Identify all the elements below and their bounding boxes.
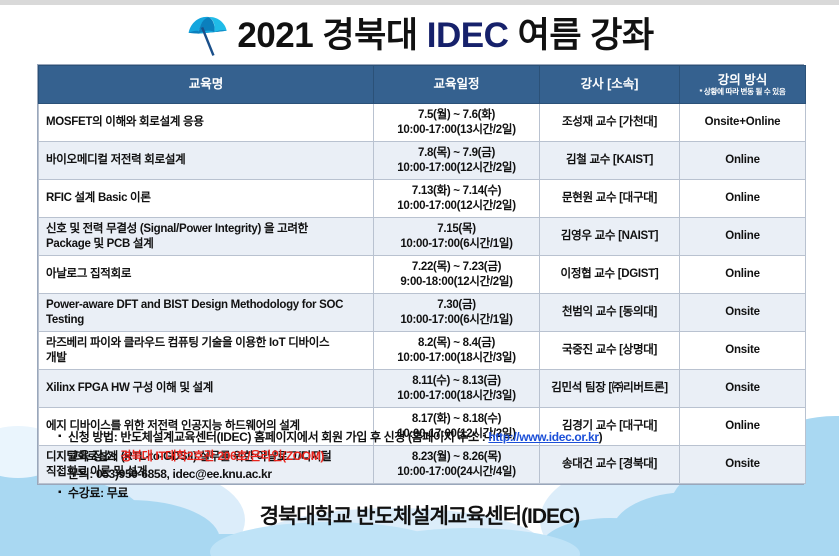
cell-instructor: 국중진 교수 [상명대] bbox=[540, 332, 680, 370]
mode-value: Online bbox=[725, 192, 760, 204]
instructor-name: 천범익 교수 [동의대] bbox=[562, 306, 657, 318]
cell-instructor: 김영우 교수 [NAIST] bbox=[540, 218, 680, 256]
table-row: 바이오메디컬 저전력 회로설계7.8(목) ~ 7.9(금)10:00-17:0… bbox=[39, 142, 806, 180]
note-apply-method: ▪ 신청 방법: 반도체설계교육센터(IDEC) 홈페이지에서 회원 가입 후 … bbox=[58, 428, 818, 447]
mode-value: Online bbox=[725, 230, 760, 242]
cell-course-name: RFIC 설계 Basic 이론 bbox=[39, 180, 374, 218]
course-schedule-table-wrapper: 교육명 교육일정 강사 [소속] 강의 방식* 상황에 따라 변동 될 수 있음… bbox=[37, 64, 804, 485]
note-contact-text: 문의: 053)950-6858, idec@ee.knu.ac.kr bbox=[68, 465, 272, 484]
title-brand: IDEC bbox=[427, 16, 509, 55]
bullet-marker-icon: ▪ bbox=[58, 428, 68, 446]
cell-schedule: 7.30(금)10:00-17:00(6시간/1일) bbox=[374, 294, 540, 332]
note-venue: ▪ 교육 장소: 경북대 IT대학2호관 206호/온라인(ZOOM) bbox=[58, 447, 818, 466]
schedule-dates: 7.15(목) bbox=[437, 223, 476, 235]
title-suffix: 여름 강좌 bbox=[508, 16, 653, 55]
beach-umbrella-icon bbox=[185, 13, 231, 57]
course-name-line1: 라즈베리 파이와 클라우드 컴퓨팅 기술을 이용한 IoT 디바이스 bbox=[46, 337, 329, 349]
mode-value: Onsite bbox=[725, 344, 760, 356]
course-name-line1: Xilinx FPGA HW 구성 이해 및 설계 bbox=[46, 382, 213, 394]
note-apply-method-label: 신청 방법: 반도체설계교육센터(IDEC) 홈페이지에서 회원 가입 후 신청… bbox=[68, 430, 488, 444]
cell-course-name: 신호 및 전력 무결성 (Signal/Power Integrity) 을 고… bbox=[39, 218, 374, 256]
slide-top-edge bbox=[0, 0, 839, 5]
column-header-mode-label: 강의 방식 bbox=[718, 73, 767, 87]
notes-list: ▪ 신청 방법: 반도체설계교육센터(IDEC) 홈페이지에서 회원 가입 후 … bbox=[58, 428, 818, 502]
course-name-line1: Power-aware DFT and BIST Design Methodol… bbox=[46, 299, 343, 311]
schedule-hours: 10:00-17:00(18시간/3일) bbox=[378, 351, 535, 366]
schedule-hours: 10:00-17:00(6시간/1일) bbox=[378, 237, 535, 252]
table-body: MOSFET의 이해와 회로설계 응용7.5(월) ~ 7.6(화)10:00-… bbox=[39, 104, 806, 484]
schedule-dates: 7.22(목) ~ 7.23(금) bbox=[412, 261, 501, 273]
cell-instructor: 이정협 교수 [DGIST] bbox=[540, 256, 680, 294]
course-name-line2: Package 및 PCB 설계 bbox=[46, 238, 153, 250]
cell-mode: Online bbox=[680, 256, 806, 294]
cell-instructor: 김민석 팀장 [㈜리버트론] bbox=[540, 370, 680, 408]
cell-course-name: 라즈베리 파이와 클라우드 컴퓨팅 기술을 이용한 IoT 디바이스개발 bbox=[39, 332, 374, 370]
cell-schedule: 7.22(목) ~ 7.23(금)9:00-18:00(12시간/2일) bbox=[374, 256, 540, 294]
cell-mode: Onsite bbox=[680, 294, 806, 332]
schedule-hours: 10:00-17:00(12시간/2일) bbox=[378, 199, 535, 214]
mode-value: Onsite+Online bbox=[705, 116, 781, 128]
bullet-marker-icon: ▪ bbox=[58, 465, 68, 483]
schedule-hours: 10:00-17:00(12시간/2일) bbox=[378, 161, 535, 176]
schedule-dates: 7.5(월) ~ 7.6(화) bbox=[418, 109, 495, 121]
table-row: RFIC 설계 Basic 이론7.13(화) ~ 7.14(수)10:00-1… bbox=[39, 180, 806, 218]
mode-value: Online bbox=[725, 154, 760, 166]
table-row: MOSFET의 이해와 회로설계 응용7.5(월) ~ 7.6(화)10:00-… bbox=[39, 104, 806, 142]
schedule-hours: 10:00-17:00(13시간/2일) bbox=[378, 123, 535, 138]
course-name-line1: 신호 및 전력 무결성 (Signal/Power Integrity) 을 고… bbox=[46, 223, 308, 235]
table-row: Power-aware DFT and BIST Design Methodol… bbox=[39, 294, 806, 332]
schedule-hours: 9:00-18:00(12시간/2일) bbox=[378, 275, 535, 290]
column-header-course-name: 교육명 bbox=[39, 66, 374, 104]
table-header-row: 교육명 교육일정 강사 [소속] 강의 방식* 상황에 따라 변동 될 수 있음 bbox=[39, 66, 806, 104]
column-header-mode-note: * 상황에 따라 변동 될 수 있음 bbox=[680, 88, 805, 97]
instructor-name: 김철 교수 [KAIST] bbox=[566, 154, 653, 166]
cell-course-name: 바이오메디컬 저전력 회로설계 bbox=[39, 142, 374, 180]
table-header: 교육명 교육일정 강사 [소속] 강의 방식* 상황에 따라 변동 될 수 있음 bbox=[39, 66, 806, 104]
schedule-dates: 8.2(목) ~ 8.4(금) bbox=[418, 337, 495, 349]
mode-value: Onsite bbox=[725, 382, 760, 394]
cell-mode: Online bbox=[680, 218, 806, 256]
cell-instructor: 김철 교수 [KAIST] bbox=[540, 142, 680, 180]
cell-schedule: 7.15(목)10:00-17:00(6시간/1일) bbox=[374, 218, 540, 256]
schedule-dates: 7.30(금) bbox=[437, 299, 476, 311]
table-row: 아날로그 집적회로7.22(목) ~ 7.23(금)9:00-18:00(12시… bbox=[39, 256, 806, 294]
schedule-hours: 10:00-17:00(18시간/3일) bbox=[378, 389, 535, 404]
schedule-dates: 7.8(목) ~ 7.9(금) bbox=[418, 147, 495, 159]
mode-value: Online bbox=[725, 268, 760, 280]
instructor-name: 조성재 교수 [가천대] bbox=[562, 116, 657, 128]
column-header-course-name-label: 교육명 bbox=[189, 77, 224, 91]
table-row: Xilinx FPGA HW 구성 이해 및 설계8.11(수) ~ 8.13(… bbox=[39, 370, 806, 408]
note-apply-method-text: 신청 방법: 반도체설계교육센터(IDEC) 홈페이지에서 회원 가입 후 신청… bbox=[68, 428, 602, 447]
cell-instructor: 천범익 교수 [동의대] bbox=[540, 294, 680, 332]
footer: 경북대학교 반도체설계교육센터(IDEC) bbox=[0, 500, 839, 530]
course-schedule-table: 교육명 교육일정 강사 [소속] 강의 방식* 상황에 따라 변동 될 수 있음… bbox=[38, 65, 806, 484]
title-prefix: 2021 경북대 bbox=[237, 16, 426, 55]
bullet-marker-icon: ▪ bbox=[58, 447, 68, 465]
cell-mode: Onsite bbox=[680, 370, 806, 408]
cell-course-name: Power-aware DFT and BIST Design Methodol… bbox=[39, 294, 374, 332]
course-name-line1: 바이오메디컬 저전력 회로설계 bbox=[46, 154, 185, 166]
schedule-dates: 8.11(수) ~ 8.13(금) bbox=[412, 375, 501, 387]
instructor-name: 문현원 교수 [대구대] bbox=[562, 192, 657, 204]
course-name-line2: Testing bbox=[46, 314, 84, 326]
instructor-name: 김민석 팀장 [㈜리버트론] bbox=[551, 382, 668, 394]
cell-course-name: 아날로그 집적회로 bbox=[39, 256, 374, 294]
note-venue-text: 교육 장소: 경북대 IT대학2호관 206호/온라인(ZOOM) bbox=[68, 447, 324, 466]
note-contact: ▪ 문의: 053)950-6858, idec@ee.knu.ac.kr bbox=[58, 465, 818, 484]
footer-organization: 경북대학교 반도체설계교육센터(IDEC) bbox=[260, 505, 579, 528]
cell-schedule: 7.8(목) ~ 7.9(금)10:00-17:00(12시간/2일) bbox=[374, 142, 540, 180]
slide-canvas: 2021 경북대 IDEC 여름 강좌 교육명 교육일정 강사 [소속] 강의 … bbox=[0, 0, 839, 556]
cell-instructor: 조성재 교수 [가천대] bbox=[540, 104, 680, 142]
note-apply-method-tail: ) bbox=[599, 430, 603, 444]
column-header-schedule-label: 교육일정 bbox=[433, 77, 479, 91]
page-title: 2021 경북대 IDEC 여름 강좌 bbox=[237, 18, 653, 53]
note-venue-label: 교육 장소: bbox=[68, 449, 120, 463]
cell-mode: Onsite+Online bbox=[680, 104, 806, 142]
idec-homepage-link[interactable]: http://www.idec.or.kr bbox=[488, 430, 598, 444]
instructor-name: 국중진 교수 [상명대] bbox=[562, 344, 657, 356]
column-header-instructor: 강사 [소속] bbox=[540, 66, 680, 104]
cell-mode: Onsite bbox=[680, 332, 806, 370]
cell-schedule: 8.11(수) ~ 8.13(금)10:00-17:00(18시간/3일) bbox=[374, 370, 540, 408]
column-header-instructor-label: 강사 [소속] bbox=[581, 77, 639, 91]
course-name-line1: RFIC 설계 Basic 이론 bbox=[46, 192, 151, 204]
instructor-name: 김영우 교수 [NAIST] bbox=[561, 230, 658, 242]
cell-instructor: 문현원 교수 [대구대] bbox=[540, 180, 680, 218]
mode-value: Onsite bbox=[725, 306, 760, 318]
schedule-dates: 7.13(화) ~ 7.14(수) bbox=[412, 185, 501, 197]
cell-course-name: MOSFET의 이해와 회로설계 응용 bbox=[39, 104, 374, 142]
instructor-name: 이정협 교수 [DGIST] bbox=[561, 268, 659, 280]
column-header-schedule: 교육일정 bbox=[374, 66, 540, 104]
cell-schedule: 7.5(월) ~ 7.6(화)10:00-17:00(13시간/2일) bbox=[374, 104, 540, 142]
cell-schedule: 8.2(목) ~ 8.4(금)10:00-17:00(18시간/3일) bbox=[374, 332, 540, 370]
schedule-hours: 10:00-17:00(6시간/1일) bbox=[378, 313, 535, 328]
table-row: 라즈베리 파이와 클라우드 컴퓨팅 기술을 이용한 IoT 디바이스개발8.2(… bbox=[39, 332, 806, 370]
column-header-mode: 강의 방식* 상황에 따라 변동 될 수 있음 bbox=[680, 66, 806, 104]
course-name-line1: MOSFET의 이해와 회로설계 응용 bbox=[46, 116, 204, 128]
table-row: 신호 및 전력 무결성 (Signal/Power Integrity) 을 고… bbox=[39, 218, 806, 256]
cell-schedule: 7.13(화) ~ 7.14(수)10:00-17:00(12시간/2일) bbox=[374, 180, 540, 218]
cell-mode: Online bbox=[680, 180, 806, 218]
schedule-dates: 8.17(화) ~ 8.18(수) bbox=[412, 413, 501, 425]
course-name-line2: 개발 bbox=[46, 352, 67, 364]
cell-course-name: Xilinx FPGA HW 구성 이해 및 설계 bbox=[39, 370, 374, 408]
note-venue-value: 경북대 IT대학2호관 206호/온라인(ZOOM) bbox=[120, 449, 324, 463]
course-name-line1: 아날로그 집적회로 bbox=[46, 268, 131, 280]
bullet-marker-icon: ▪ bbox=[58, 484, 68, 502]
slide-title-row: 2021 경북대 IDEC 여름 강좌 bbox=[0, 8, 839, 62]
cell-mode: Online bbox=[680, 142, 806, 180]
